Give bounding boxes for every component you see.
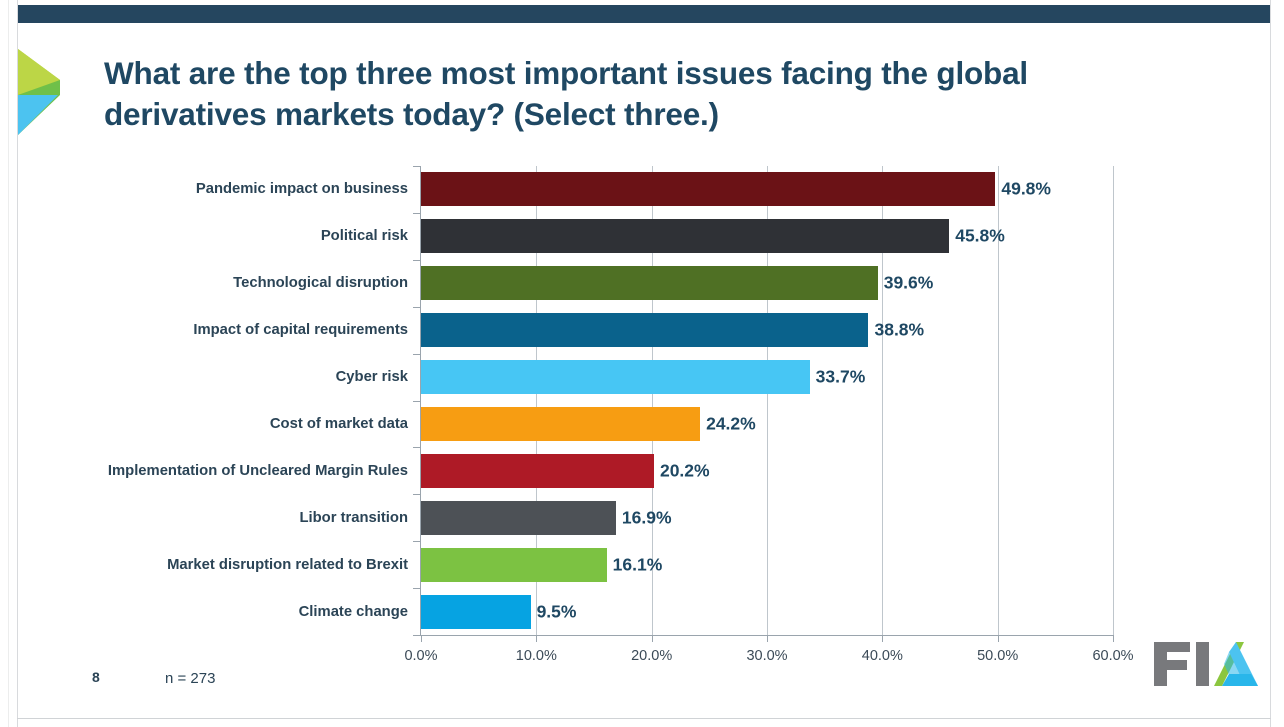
bar-row: 20.2%: [421, 454, 1113, 488]
bar-value-label: 33.7%: [810, 367, 866, 388]
bar-row: 16.1%: [421, 548, 1113, 582]
bar-row: 24.2%: [421, 407, 1113, 441]
bar[interactable]: [421, 172, 995, 206]
bar-value-label: 45.8%: [949, 226, 1005, 247]
bar[interactable]: [421, 313, 868, 347]
bar[interactable]: [421, 501, 616, 535]
x-tick: [421, 636, 422, 642]
chart-category-labels: Pandemic impact on businessPolitical ris…: [0, 166, 408, 635]
bar-row: 39.6%: [421, 266, 1113, 300]
y-tick: [413, 166, 420, 167]
x-tick-label: 0.0%: [404, 648, 437, 664]
y-tick: [413, 213, 420, 214]
x-tick: [998, 636, 999, 642]
bar-row: 9.5%: [421, 595, 1113, 629]
x-tick-label: 30.0%: [746, 648, 787, 664]
y-tick: [413, 588, 420, 589]
x-tick-label: 40.0%: [862, 648, 903, 664]
x-tick-label: 10.0%: [516, 648, 557, 664]
bar[interactable]: [421, 454, 654, 488]
y-tick: [413, 635, 420, 636]
x-tick-label: 60.0%: [1092, 648, 1133, 664]
bar-value-label: 20.2%: [654, 460, 710, 481]
bar-row: 16.9%: [421, 501, 1113, 535]
x-tick: [1113, 636, 1114, 642]
x-tick: [536, 636, 537, 642]
y-tick: [413, 494, 420, 495]
bar-row: 33.7%: [421, 360, 1113, 394]
bar[interactable]: [421, 360, 810, 394]
category-label: Cyber risk: [336, 369, 408, 385]
y-tick: [413, 401, 420, 402]
chart-plot-area: 49.8%45.8%39.6%38.8%33.7%24.2%20.2%16.9%…: [421, 166, 1113, 635]
bar-row: 45.8%: [421, 219, 1113, 253]
x-tick-label: 20.0%: [631, 648, 672, 664]
bar-value-label: 16.9%: [616, 507, 672, 528]
y-tick: [413, 447, 420, 448]
category-label: Pandemic impact on business: [196, 181, 408, 197]
category-label: Technological disruption: [233, 275, 408, 291]
category-label: Political risk: [321, 228, 408, 244]
category-label: Cost of market data: [270, 416, 408, 432]
y-tick: [413, 307, 420, 308]
sample-size-note: n = 273: [165, 670, 215, 687]
bar[interactable]: [421, 219, 949, 253]
bar-value-label: 16.1%: [607, 554, 663, 575]
x-tick: [882, 636, 883, 642]
y-tick: [413, 260, 420, 261]
x-tick-label: 50.0%: [977, 648, 1018, 664]
bar-value-label: 38.8%: [868, 320, 924, 341]
x-tick: [767, 636, 768, 642]
slide-canvas: What are the top three most important is…: [0, 0, 1284, 727]
category-label: Market disruption related to Brexit: [167, 557, 408, 573]
bar-value-label: 24.2%: [700, 413, 756, 434]
bar[interactable]: [421, 548, 607, 582]
bar-row: 38.8%: [421, 313, 1113, 347]
category-label: Implementation of Uncleared Margin Rules: [108, 463, 408, 479]
fia-wordmark-logo-icon: [1152, 638, 1260, 690]
bar[interactable]: [421, 266, 878, 300]
bar-chart: 0.0%10.0%20.0%30.0%40.0%50.0%60.0% Pande…: [0, 0, 1284, 727]
category-label: Impact of capital requirements: [193, 322, 408, 338]
bar-value-label: 49.8%: [995, 179, 1051, 200]
x-tick: [652, 636, 653, 642]
category-label: Libor transition: [299, 510, 408, 526]
bar-value-label: 39.6%: [878, 273, 934, 294]
y-tick: [413, 354, 420, 355]
y-tick: [413, 541, 420, 542]
bar[interactable]: [421, 595, 531, 629]
gridline: [1113, 166, 1114, 635]
category-label: Climate change: [299, 604, 408, 620]
bar-row: 49.8%: [421, 172, 1113, 206]
bar[interactable]: [421, 407, 700, 441]
page-number: 8: [92, 669, 100, 685]
bar-value-label: 9.5%: [531, 601, 577, 622]
